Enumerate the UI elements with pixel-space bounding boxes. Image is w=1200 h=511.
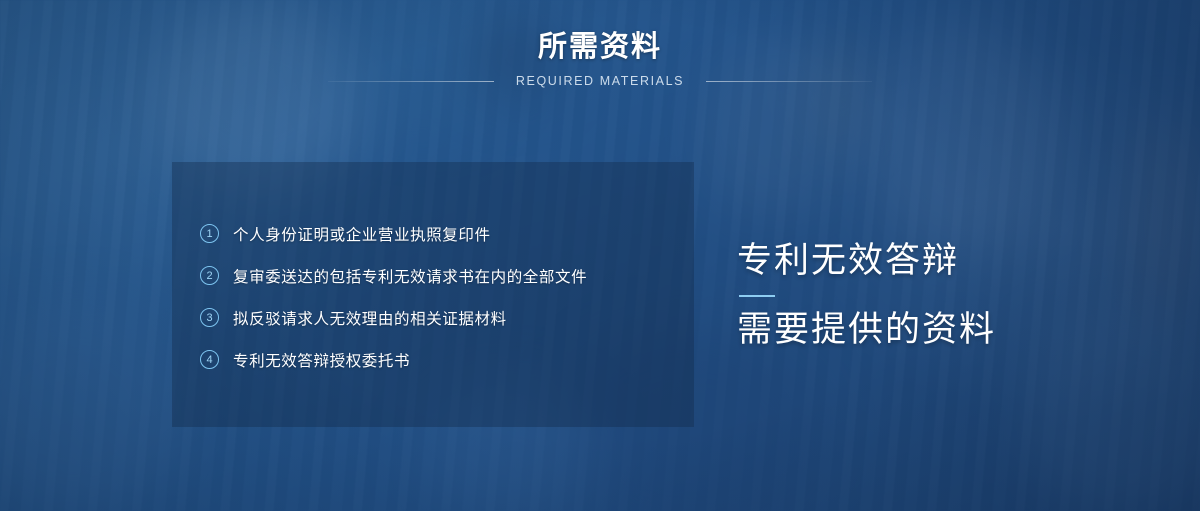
list-item-number: 4 bbox=[200, 350, 219, 369]
materials-list: 1 个人身份证明或企业营业执照复印件 2 复审委送达的包括专利无效请求书在内的全… bbox=[200, 218, 676, 386]
page-title: 所需资料 bbox=[0, 28, 1200, 66]
list-item: 3 拟反驳请求人无效理由的相关证据材料 bbox=[200, 302, 676, 333]
right-heading-divider bbox=[739, 295, 775, 297]
list-item-number: 2 bbox=[200, 266, 219, 285]
list-item-label: 个人身份证明或企业营业执照复印件 bbox=[233, 223, 491, 245]
header-rule-right bbox=[706, 81, 872, 82]
list-item-number: 1 bbox=[200, 224, 219, 243]
right-heading-block: 专利无效答辩 需要提供的资料 bbox=[737, 238, 1167, 353]
page-subtitle: REQUIRED MATERIALS bbox=[494, 74, 706, 88]
list-item-number: 3 bbox=[200, 308, 219, 327]
right-heading-line2: 需要提供的资料 bbox=[737, 307, 1167, 353]
list-item-label: 专利无效答辩授权委托书 bbox=[233, 349, 410, 371]
list-item: 2 复审委送达的包括专利无效请求书在内的全部文件 bbox=[200, 260, 676, 291]
list-item: 1 个人身份证明或企业营业执照复印件 bbox=[200, 218, 676, 249]
list-item-label: 复审委送达的包括专利无效请求书在内的全部文件 bbox=[233, 265, 587, 287]
list-item: 4 专利无效答辩授权委托书 bbox=[200, 344, 676, 375]
header-rule-left bbox=[328, 81, 494, 82]
right-heading-line1: 专利无效答辩 bbox=[737, 238, 1167, 284]
list-item-label: 拟反驳请求人无效理由的相关证据材料 bbox=[233, 307, 507, 329]
materials-panel: 1 个人身份证明或企业营业执照复印件 2 复审委送达的包括专利无效请求书在内的全… bbox=[172, 162, 694, 427]
page-header: 所需资料 REQUIRED MATERIALS bbox=[0, 28, 1200, 88]
banner-stage: 所需资料 REQUIRED MATERIALS 1 个人身份证明或企业营业执照复… bbox=[0, 0, 1200, 511]
page-subtitle-row: REQUIRED MATERIALS bbox=[0, 74, 1200, 88]
